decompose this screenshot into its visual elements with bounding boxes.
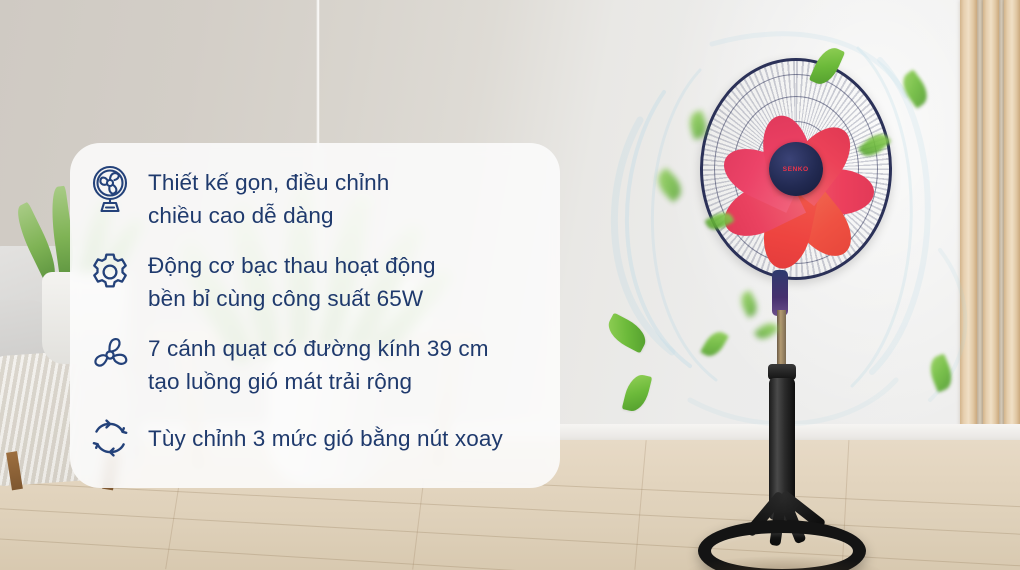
feature-text: Tùy chỉnh 3 mức gió bằng nút xoay <box>148 421 503 455</box>
fan-blade-icon <box>86 331 134 379</box>
table-fan-icon <box>86 165 134 213</box>
product-scene: SENKO <box>0 0 1020 570</box>
feature-card: Thiết kế gọn, điều chỉnh chiều cao dễ dà… <box>70 143 560 488</box>
stand-fan: SENKO <box>676 58 916 538</box>
feature-text: Thiết kế gọn, điều chỉnh chiều cao dễ dà… <box>148 165 389 232</box>
feature-text: 7 cánh quạt có đường kính 39 cm tạo luồn… <box>148 331 489 398</box>
feature-item: Tùy chỉnh 3 mức gió bằng nút xoay <box>86 414 542 462</box>
feature-list: Thiết kế gọn, điều chỉnh chiều cao dễ dà… <box>70 143 560 488</box>
feature-item: Thiết kế gọn, điều chỉnh chiều cao dễ dà… <box>86 165 542 232</box>
gear-icon <box>86 248 134 296</box>
fan-brand-label: SENKO <box>783 166 809 173</box>
fan-blades: SENKO <box>718 76 874 262</box>
feature-item: Động cơ bạc thau hoạt động bền bỉ cùng c… <box>86 248 542 315</box>
rotate-icon <box>86 414 134 462</box>
feature-text: Động cơ bạc thau hoạt động bền bỉ cùng c… <box>148 248 436 315</box>
feature-item: 7 cánh quạt có đường kính 39 cm tạo luồn… <box>86 331 542 398</box>
fan-pole-upper <box>777 310 786 372</box>
fan-hub: SENKO <box>769 142 823 196</box>
fan-head: SENKO <box>700 58 892 280</box>
